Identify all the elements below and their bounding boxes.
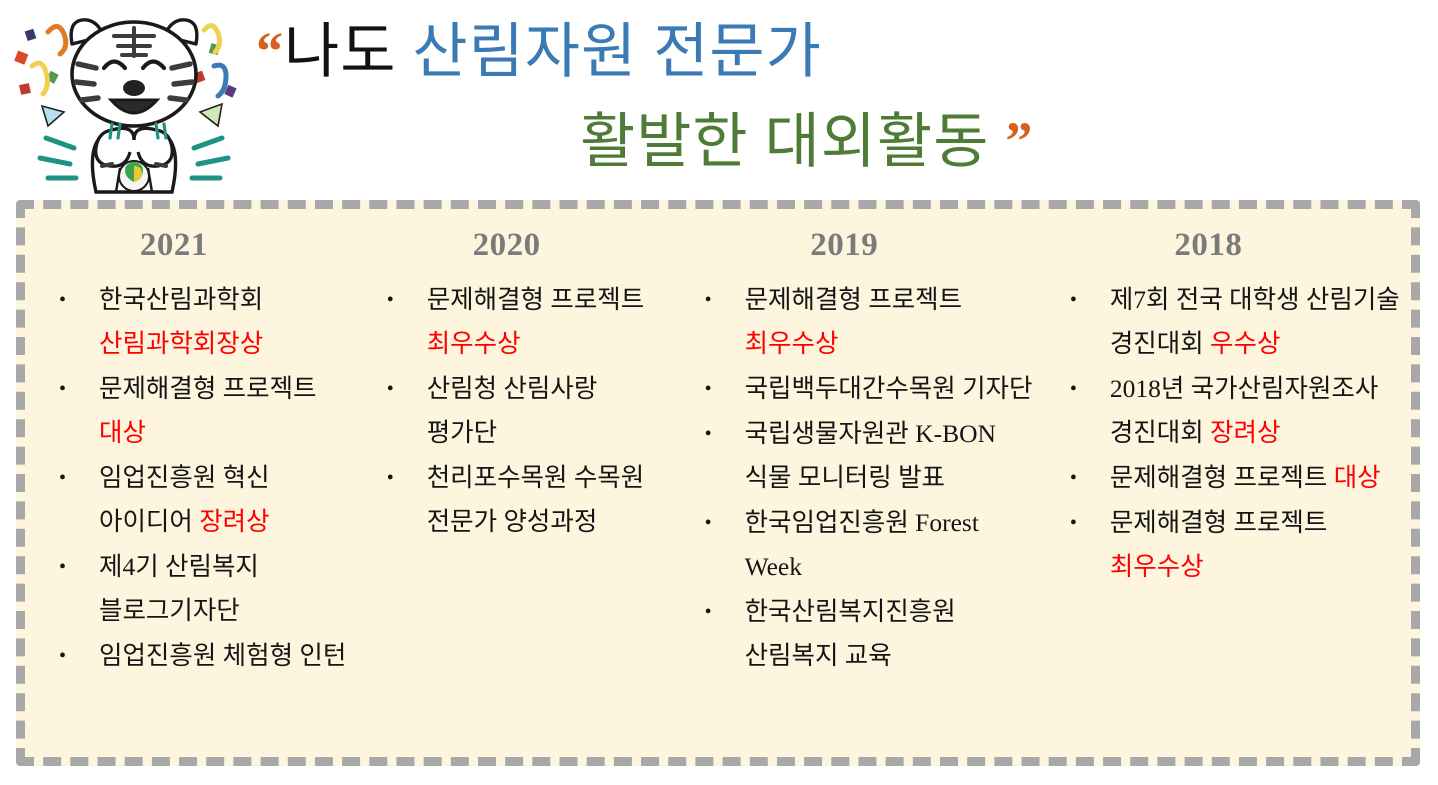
list-item: •2018년 국가산림자원조사 경진대회 장려상 [1052, 367, 1405, 455]
activity-text: 국립백두대간수목원 기자단 [745, 374, 1033, 403]
tiger-body [92, 124, 175, 192]
bullet-icon: • [59, 278, 66, 322]
bullet-icon: • [59, 367, 66, 411]
year-heading: 2018 [1052, 227, 1405, 264]
year-heading: 2021 [41, 227, 357, 264]
list-item: •국립생물자원관 K-BON 식물 모니터링 발표 [687, 412, 1034, 500]
year-heading: 2020 [369, 227, 671, 264]
award-highlight: 최우수상 [427, 329, 521, 358]
list-item: •문제해결형 프로젝트 최우수상 [687, 278, 1034, 366]
activity-text: 문제해결형 프로젝트 [1110, 463, 1334, 492]
bullet-icon: • [705, 590, 712, 634]
confetti-right [193, 26, 237, 126]
activity-list: •제7회 전국 대학생 산림기술 경진대회 우수상•2018년 국가산림자원조사… [1052, 278, 1405, 589]
title-line-2: 활발한 대외활동 ” [580, 112, 1033, 172]
bullet-icon: • [705, 412, 712, 456]
confetti-left [14, 26, 66, 126]
bullet-icon: • [1070, 278, 1077, 322]
activity-list: •한국산림과학회 산림과학회장상•문제해결형 프로젝트 대상•임업진흥원 혁신 … [41, 278, 357, 678]
year-column-2021: 2021•한국산림과학회 산림과학회장상•문제해결형 프로젝트 대상•임업진흥원… [31, 227, 357, 747]
title-prefix: 나도 [284, 19, 396, 85]
activity-list: •문제해결형 프로젝트 최우수상•국립백두대간수목원 기자단•국립생물자원관 K… [687, 278, 1034, 678]
list-item: •문제해결형 프로젝트 최우수상 [1052, 501, 1405, 589]
award-highlight: 장려상 [199, 507, 269, 536]
list-item: •한국산림복지진흥원 산림복지 교육 [687, 590, 1034, 678]
celebrating-tiger-mascot [8, 6, 260, 196]
activity-text: 제4기 산림복지 블로그기자단 [99, 552, 259, 625]
bullet-icon: • [59, 456, 66, 500]
year-column-2018: 2018•제7회 전국 대학생 산림기술 경진대회 우수상•2018년 국가산림… [1034, 227, 1405, 747]
subtitle-text: 활발한 대외활동 [580, 109, 989, 175]
bullet-icon: • [387, 456, 394, 500]
award-highlight: 산림과학회장상 [99, 329, 263, 358]
list-item: •천리포수목원 수목원 전문가 양성과정 [369, 456, 671, 544]
list-item: •제7회 전국 대학생 산림기술 경진대회 우수상 [1052, 278, 1405, 366]
activity-text: 문제해결형 프로젝트 [745, 285, 963, 314]
award-highlight: 장려상 [1210, 418, 1280, 447]
activity-text: 한국임업진흥원 Forest Week [745, 508, 979, 581]
award-highlight: 최우수상 [1110, 552, 1204, 581]
year-columns: 2021•한국산림과학회 산림과학회장상•문제해결형 프로젝트 대상•임업진흥원… [25, 209, 1411, 757]
activity-text: 임업진흥원 체험형 인턴 [99, 641, 346, 670]
award-highlight: 우수상 [1210, 329, 1280, 358]
list-item: •산림청 산림사랑 평가단 [369, 367, 671, 455]
activity-text: 문제해결형 프로젝트 [99, 374, 317, 403]
tiger-head [71, 20, 197, 126]
title-block: “나도 산림자원 전문가 활발한 대외활동 ” [250, 6, 1430, 196]
list-item: •한국임업진흥원 Forest Week [687, 501, 1034, 589]
activity-text: 문제해결형 프로젝트 [427, 285, 645, 314]
activity-text: 한국산림복지진흥원 산림복지 교육 [745, 597, 956, 670]
title-line-1: “나도 산림자원 전문가 [256, 22, 822, 82]
activity-text: 문제해결형 프로젝트 [1110, 508, 1328, 537]
bullet-icon: • [59, 545, 66, 589]
bullet-icon: • [59, 634, 66, 678]
list-item: •한국산림과학회 산림과학회장상 [41, 278, 357, 366]
bullet-icon: • [1070, 501, 1077, 545]
list-item: •임업진흥원 체험형 인턴 [41, 634, 357, 678]
bullet-icon: • [705, 501, 712, 545]
activity-text: 국립생물자원관 K-BON 식물 모니터링 발표 [745, 419, 996, 492]
bullet-icon: • [387, 367, 394, 411]
bullet-icon: • [1070, 456, 1077, 500]
award-highlight: 최우수상 [745, 329, 839, 358]
award-highlight: 대상 [99, 418, 146, 447]
activity-list: •문제해결형 프로젝트 최우수상•산림청 산림사랑 평가단•천리포수목원 수목원… [369, 278, 671, 544]
quote-open-icon: “ [256, 21, 284, 81]
activities-panel: 2021•한국산림과학회 산림과학회장상•문제해결형 프로젝트 대상•임업진흥원… [16, 200, 1420, 766]
bullet-icon: • [1070, 367, 1077, 411]
list-item: •임업진흥원 혁신 아이디어 장려상 [41, 456, 357, 544]
year-column-2020: 2020•문제해결형 프로젝트 최우수상•산림청 산림사랑 평가단•천리포수목원… [357, 227, 671, 747]
header: “나도 산림자원 전문가 활발한 대외활동 ” [0, 0, 1438, 196]
award-highlight: 대상 [1334, 463, 1381, 492]
list-item: •문제해결형 프로젝트 대상 [41, 367, 357, 455]
list-item: •문제해결형 프로젝트 최우수상 [369, 278, 671, 366]
title-highlight: 산림자원 전문가 [412, 19, 821, 85]
bullet-icon: • [387, 278, 394, 322]
list-item: •문제해결형 프로젝트 대상 [1052, 456, 1405, 500]
activity-text: 산림청 산림사랑 평가단 [427, 374, 598, 447]
activity-text: 천리포수목원 수목원 전문가 양성과정 [427, 463, 645, 536]
year-heading: 2019 [687, 227, 1034, 264]
year-column-2019: 2019•문제해결형 프로젝트 최우수상•국립백두대간수목원 기자단•국립생물자… [671, 227, 1034, 747]
list-item: •제4기 산림복지 블로그기자단 [41, 545, 357, 633]
activity-text: 한국산림과학회 [99, 285, 263, 314]
bullet-icon: • [705, 278, 712, 322]
list-item: •국립백두대간수목원 기자단 [687, 367, 1034, 411]
quote-close-icon: ” [1005, 111, 1033, 171]
bullet-icon: • [705, 367, 712, 411]
